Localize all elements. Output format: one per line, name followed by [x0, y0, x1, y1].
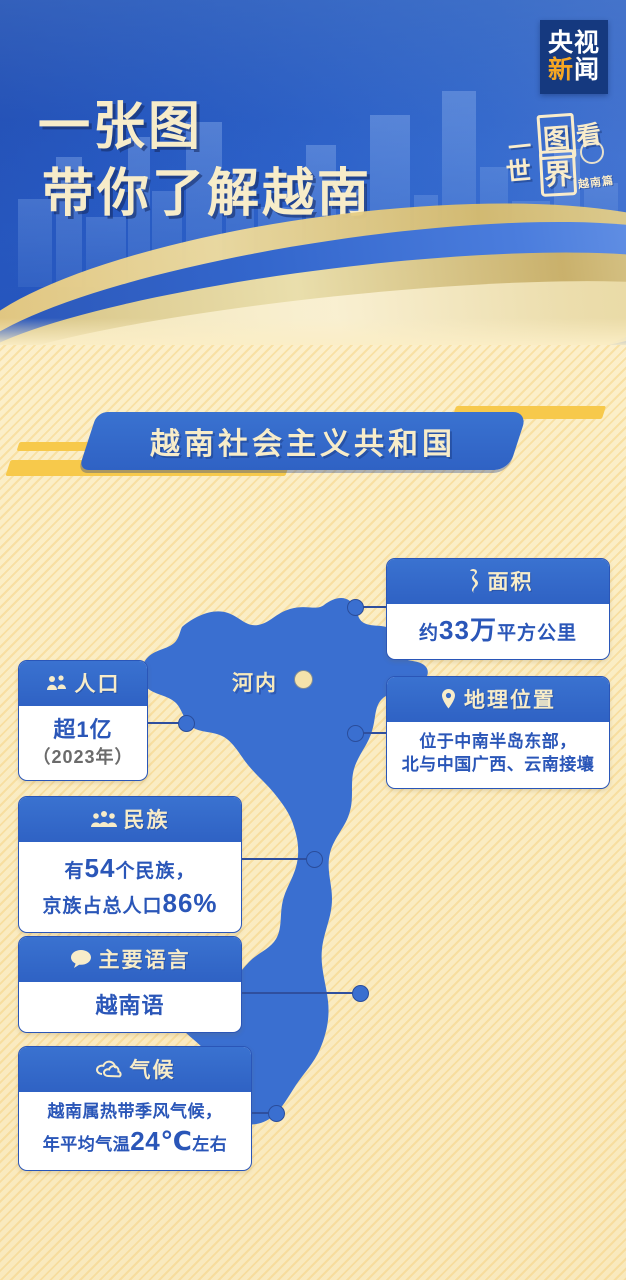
logo-char-xin: 新	[548, 56, 574, 84]
area-suffix: 平方公里	[497, 623, 577, 644]
connector-dot-lang	[352, 985, 369, 1002]
card-language[interactable]: 主要语言 越南语	[18, 936, 242, 1033]
card-lang-value: 越南语	[29, 991, 231, 1021]
speech-bubble-icon	[70, 949, 92, 969]
cctv-news-logo: 央视 新闻	[540, 20, 608, 94]
card-geo-line2: 北与中国广西、云南接壤	[397, 754, 599, 777]
vietnam-map-icon	[463, 568, 481, 594]
card-geo-header: 地理位置	[387, 677, 609, 722]
connector-line-lang	[240, 992, 360, 994]
series-badge: 一 图 看 世 界 越南篇	[504, 110, 612, 194]
area-number: 33万	[439, 615, 497, 645]
card-area-value: 约33万平方公里	[397, 613, 599, 648]
logo-text-cctv: 央视	[548, 30, 600, 57]
capital-marker-dot	[295, 671, 312, 688]
card-area-title: 面积	[488, 566, 534, 596]
badge-char-4: 世	[504, 151, 532, 189]
card-clim-body: 越南属热带季风气候， 年平均气温24℃左右	[19, 1092, 251, 1170]
badge-char-5: 界	[539, 149, 577, 197]
clim-line2-b: 左右	[192, 1135, 227, 1154]
card-pop-title: 人口	[75, 668, 121, 698]
card-lang-header: 主要语言	[19, 937, 241, 982]
banner-title: 越南社会主义共和国	[88, 412, 518, 470]
card-geo-body: 位于中南半岛东部， 北与中国广西、云南接壤	[387, 722, 609, 788]
card-area-header: 面积	[387, 559, 609, 604]
card-geo-title: 地理位置	[464, 684, 556, 714]
people-group-icon	[46, 674, 68, 692]
card-pop-value: 超1亿	[29, 715, 137, 745]
clim-line2-a: 年平均气温	[43, 1135, 131, 1154]
connector-dot-eth	[306, 851, 323, 868]
connector-dot-pop	[178, 715, 195, 732]
eth-count: 54	[85, 853, 116, 883]
card-area-body: 约33万平方公里	[387, 604, 609, 659]
card-clim-line1: 越南属热带季风气候，	[29, 1101, 241, 1124]
card-lang-body: 越南语	[19, 982, 241, 1032]
connector-dot-area	[347, 599, 364, 616]
card-lang-title: 主要语言	[99, 944, 191, 974]
area-prefix: 约	[419, 623, 439, 644]
badge-subtitle: 越南篇	[577, 172, 615, 192]
card-pop-note: （2023年）	[29, 745, 137, 769]
card-pop-body: 超1亿 （2023年）	[19, 706, 147, 780]
card-geo-line1: 位于中南半岛东部，	[397, 731, 599, 754]
connector-dot-geo	[347, 725, 364, 742]
card-eth-line1: 有54个民族，	[29, 851, 231, 886]
card-eth-title: 民族	[124, 804, 170, 834]
hero-title-line1: 一张图	[38, 94, 478, 161]
eth-line2-a: 京族占总人口	[42, 896, 162, 917]
card-eth-header: 民族	[19, 797, 241, 842]
card-geography[interactable]: 地理位置 位于中南半岛东部， 北与中国广西、云南接壤	[386, 676, 610, 789]
card-eth-body: 有54个民族， 京族占总人口86%	[19, 842, 241, 932]
location-pin-icon	[440, 688, 457, 710]
connector-line-eth	[240, 858, 314, 860]
clim-temp: 24℃	[130, 1126, 192, 1156]
three-people-icon	[91, 810, 117, 828]
hero-section: 一张图 带你了解越南 央视 新闻 一 图 看 世 界 越南篇	[0, 0, 626, 345]
card-population[interactable]: 人口 超1亿 （2023年）	[18, 660, 148, 781]
cloud-icon	[95, 1060, 123, 1078]
card-climate[interactable]: 气候 越南属热带季风气候， 年平均气温24℃左右	[18, 1046, 252, 1171]
capital-label: 河内	[232, 667, 278, 697]
card-clim-title: 气候	[130, 1054, 176, 1084]
logo-text-news: 新闻	[548, 57, 600, 84]
card-clim-line2: 年平均气温24℃左右	[29, 1124, 241, 1159]
section-banner: 越南社会主义共和国	[0, 398, 626, 484]
globe-icon	[580, 140, 604, 164]
card-pop-header: 人口	[19, 661, 147, 706]
connector-dot-clim	[268, 1105, 285, 1122]
hero-fade	[0, 318, 626, 345]
card-eth-line2: 京族占总人口86%	[29, 886, 231, 921]
eth-line1-b: 个民族，	[115, 861, 195, 882]
card-clim-header: 气候	[19, 1047, 251, 1092]
eth-percent: 86%	[162, 888, 217, 918]
card-ethnic-groups[interactable]: 民族 有54个民族， 京族占总人口86%	[18, 796, 242, 933]
card-area[interactable]: 面积 约33万平方公里	[386, 558, 610, 660]
eth-line1-a: 有	[65, 861, 85, 882]
logo-char-wen: 闻	[574, 56, 600, 84]
infographic-page: 一张图 带你了解越南 央视 新闻 一 图 看 世 界 越南篇 越南社会主	[0, 0, 626, 1280]
